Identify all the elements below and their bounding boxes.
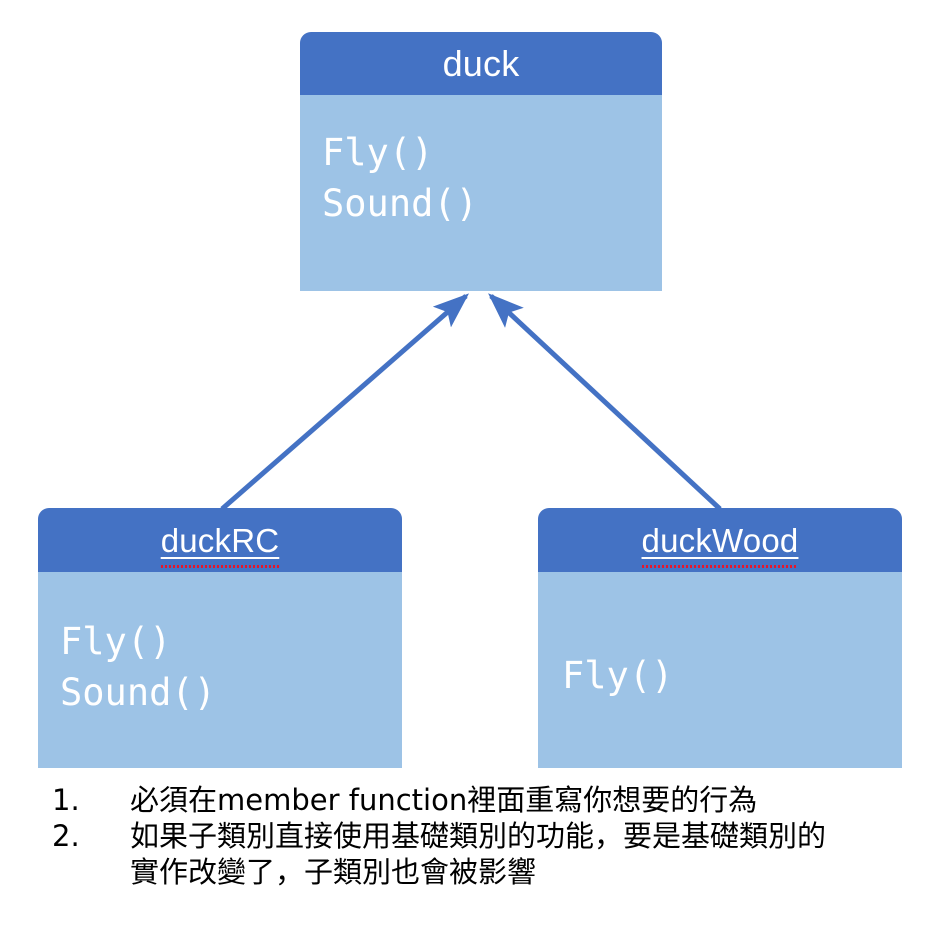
- class-box-duckwood[interactable]: duckWood Fly(): [538, 508, 902, 768]
- class-body-duckrc: Fly() Sound(): [38, 572, 402, 768]
- method-item: Fly(): [60, 616, 402, 667]
- class-box-duckrc[interactable]: duckRC Fly() Sound(): [38, 508, 402, 768]
- list-item-marker: 2.: [52, 818, 130, 854]
- method-item: Sound(): [60, 667, 402, 718]
- class-title-duck: duck: [443, 46, 520, 82]
- method-item: Fly(): [322, 127, 662, 178]
- class-body-duckwood: Fly(): [538, 572, 902, 768]
- class-body-duck: Fly() Sound(): [300, 95, 662, 291]
- connector-duckrc-to-duck: [222, 296, 466, 509]
- list-item-marker: 1.: [52, 782, 130, 818]
- class-title-duckwood: duckWood: [642, 524, 799, 557]
- class-header-duckrc: duckRC: [38, 508, 402, 572]
- method-item: Fly(): [562, 650, 902, 701]
- method-list-duck: Fly() Sound(): [322, 127, 662, 229]
- list-item-text: 如果子類別直接使用基礎類別的功能，要是基礎類別的實作改變了，子類別也會被影響: [130, 818, 850, 890]
- list-item: 1. 必須在member function裡面重寫你想要的行為: [52, 782, 922, 818]
- class-box-duck[interactable]: duck Fly() Sound(): [300, 32, 662, 291]
- method-list-duckwood: Fly(): [562, 650, 902, 701]
- list-item-text: 必須在member function裡面重寫你想要的行為: [130, 782, 850, 818]
- diagram-canvas: duck Fly() Sound() duckRC Fly() Sound() …: [0, 0, 939, 940]
- method-list-duckrc: Fly() Sound(): [60, 616, 402, 718]
- class-header-duck: duck: [300, 32, 662, 95]
- connector-duckwood-to-duck: [491, 296, 720, 509]
- method-item: Sound(): [322, 178, 662, 229]
- class-title-duckrc: duckRC: [161, 524, 280, 557]
- notes-list: 1. 必須在member function裡面重寫你想要的行為 2. 如果子類別…: [52, 782, 922, 890]
- class-header-duckwood: duckWood: [538, 508, 902, 572]
- list-item: 2. 如果子類別直接使用基礎類別的功能，要是基礎類別的實作改變了，子類別也會被影…: [52, 818, 922, 890]
